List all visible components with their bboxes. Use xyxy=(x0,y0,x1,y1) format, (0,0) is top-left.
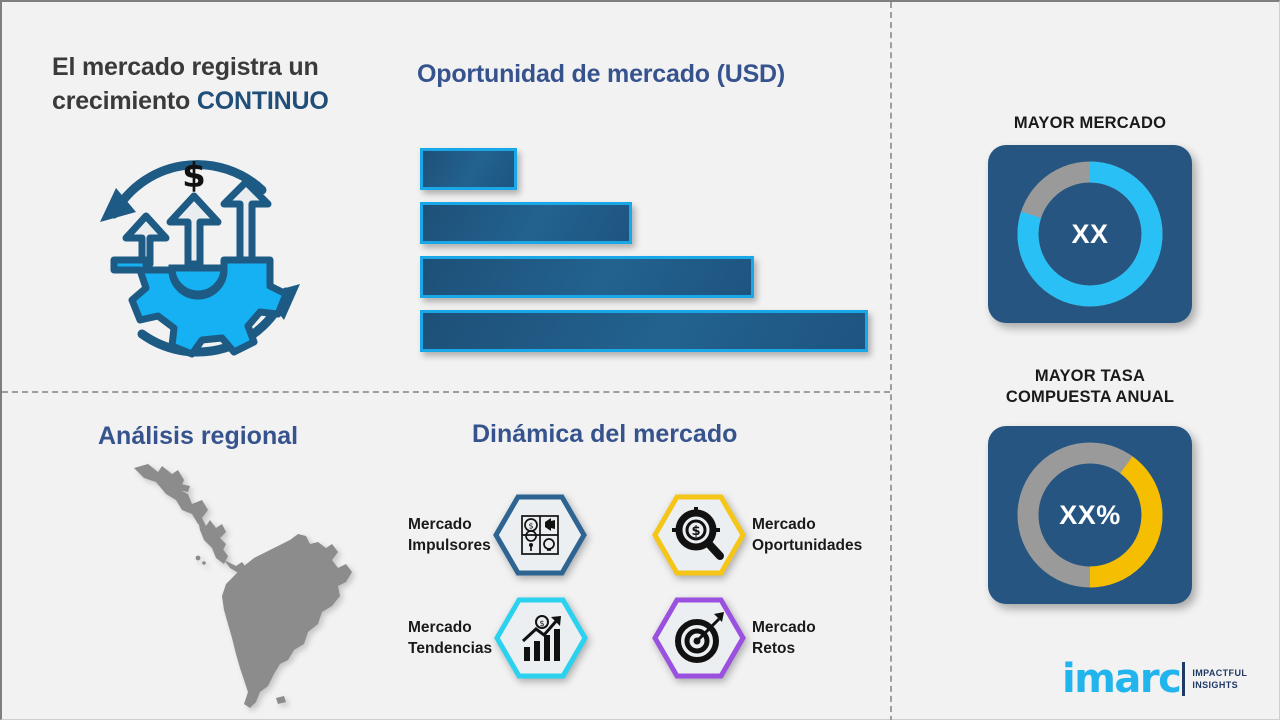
logo-divider xyxy=(1182,662,1185,696)
kpi-card-highest-cagr: XX% xyxy=(988,426,1192,604)
vertical-divider xyxy=(890,2,892,720)
growth-heading-line2: crecimiento xyxy=(52,87,197,115)
svg-text:$: $ xyxy=(528,522,533,531)
bar-4 xyxy=(420,310,868,352)
infographic-slide: El mercado registra un crecimiento CONTI… xyxy=(0,0,1280,720)
hexagon-drivers[interactable]: $ xyxy=(493,494,587,576)
svg-text:$: $ xyxy=(540,619,545,628)
growth-heading-line1: El mercado registra un xyxy=(52,53,319,81)
logo-wordmark: imarc xyxy=(1062,659,1180,699)
hexagon-trends[interactable]: $ xyxy=(494,597,588,679)
opportunity-bar-chart xyxy=(420,148,880,353)
dynamics-item-opportunities[interactable]: $ Mercado Oportunidades xyxy=(652,494,862,576)
bar-1 xyxy=(420,148,517,190)
label-line2: Impulsores xyxy=(408,537,491,554)
svg-text:$: $ xyxy=(182,156,206,196)
imarc-logo: imarc IMPACTFUL INSIGHTS xyxy=(1062,653,1262,705)
kpi-title-line1: MAYOR TASA xyxy=(1035,367,1145,385)
label-line2: Retos xyxy=(752,640,795,657)
hexagon-challenges[interactable] xyxy=(652,597,746,679)
dynamics-heading: Dinámica del mercado xyxy=(472,420,737,449)
kpi-title-line2: COMPUESTA ANUAL xyxy=(1006,388,1174,406)
regional-heading: Análisis regional xyxy=(98,422,298,451)
dynamics-item-trends[interactable]: Mercado Tendencias $ xyxy=(408,597,588,679)
logo-tagline-line2: INSIGHTS xyxy=(1192,680,1238,690)
dynamics-label-drivers: Mercado Impulsores xyxy=(408,514,491,557)
label-line1: Mercado xyxy=(752,516,816,533)
bar-3 xyxy=(420,256,754,298)
label-line2: Tendencias xyxy=(408,640,492,657)
growth-heading: El mercado registra un crecimiento CONTI… xyxy=(52,50,392,119)
horizontal-divider xyxy=(2,391,890,393)
hexagon-opportunities[interactable]: $ xyxy=(652,494,746,576)
label-line1: Mercado xyxy=(408,516,472,533)
label-line1: Mercado xyxy=(752,619,816,636)
dynamics-label-trends: Mercado Tendencias xyxy=(408,617,492,660)
opportunity-heading: Oportunidad de mercado (USD) xyxy=(417,60,785,89)
kpi-card-largest-market: XX xyxy=(988,145,1192,323)
growth-cycle-gear-icon: $ xyxy=(74,142,324,372)
kpi-title-largest-market: MAYOR MERCADO xyxy=(960,113,1220,134)
latin-america-map xyxy=(132,460,377,716)
logo-tagline-line1: IMPACTFUL xyxy=(1192,668,1247,678)
bar-2 xyxy=(420,202,632,244)
dynamics-item-drivers[interactable]: Mercado Impulsores $ xyxy=(408,494,587,576)
kpi-value-largest-market: XX xyxy=(988,145,1192,323)
kpi-value-highest-cagr: XX% xyxy=(988,426,1192,604)
logo-tagline: IMPACTFUL INSIGHTS xyxy=(1192,667,1247,691)
growth-heading-accent: CONTINUO xyxy=(197,87,329,115)
label-line1: Mercado xyxy=(408,619,472,636)
dynamics-label-opportunities: Mercado Oportunidades xyxy=(752,514,862,557)
svg-text:$: $ xyxy=(691,524,700,539)
kpi-title-highest-cagr: MAYOR TASA COMPUESTA ANUAL xyxy=(960,366,1220,408)
label-line2: Oportunidades xyxy=(752,537,862,554)
dynamics-item-challenges[interactable]: Mercado Retos xyxy=(652,597,816,679)
dynamics-label-challenges: Mercado Retos xyxy=(752,617,816,660)
